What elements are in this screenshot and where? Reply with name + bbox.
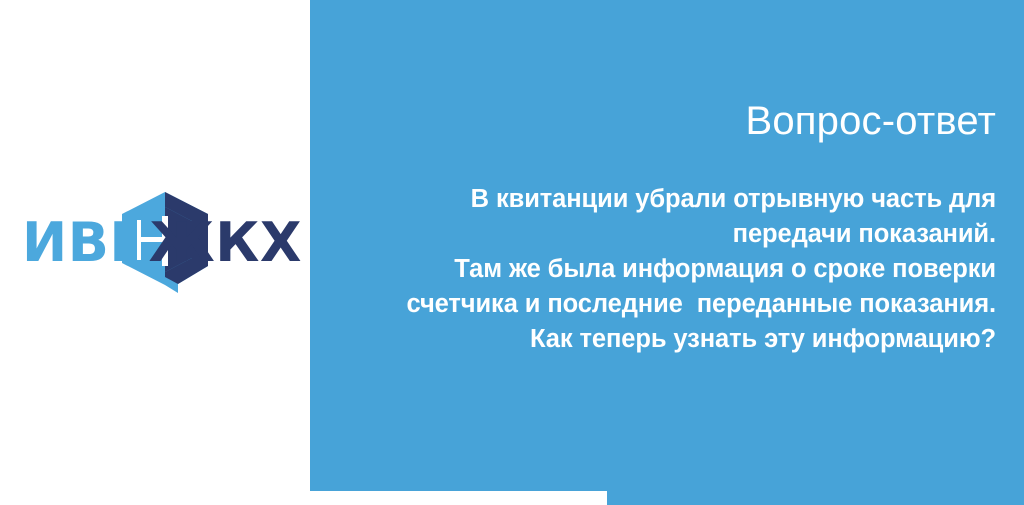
brand-logo: ИВЦ ЖКХ — [22, 190, 302, 295]
slide-canvas: Вопрос-ответ В квитанции убрали отрывную… — [0, 0, 1024, 505]
logo-wordmark-zhkh: ЖКХ — [149, 190, 302, 295]
question-line: передачи показаний. — [330, 217, 996, 252]
question-line: счетчика и последние переданные показани… — [330, 287, 996, 322]
panel-text-block: Вопрос-ответ В квитанции убрали отрывную… — [330, 0, 996, 491]
question-panel-footer-extension — [607, 491, 1024, 505]
question-line: Там же была информация о сроке поверки — [330, 252, 996, 287]
page-title: Вопрос-ответ — [330, 98, 996, 144]
question-line: В квитанции убрали отрывную часть для — [330, 182, 996, 217]
question-line: Как теперь узнать эту информацию? — [330, 322, 996, 357]
question-text: В квитанции убрали отрывную часть для пе… — [330, 182, 996, 357]
